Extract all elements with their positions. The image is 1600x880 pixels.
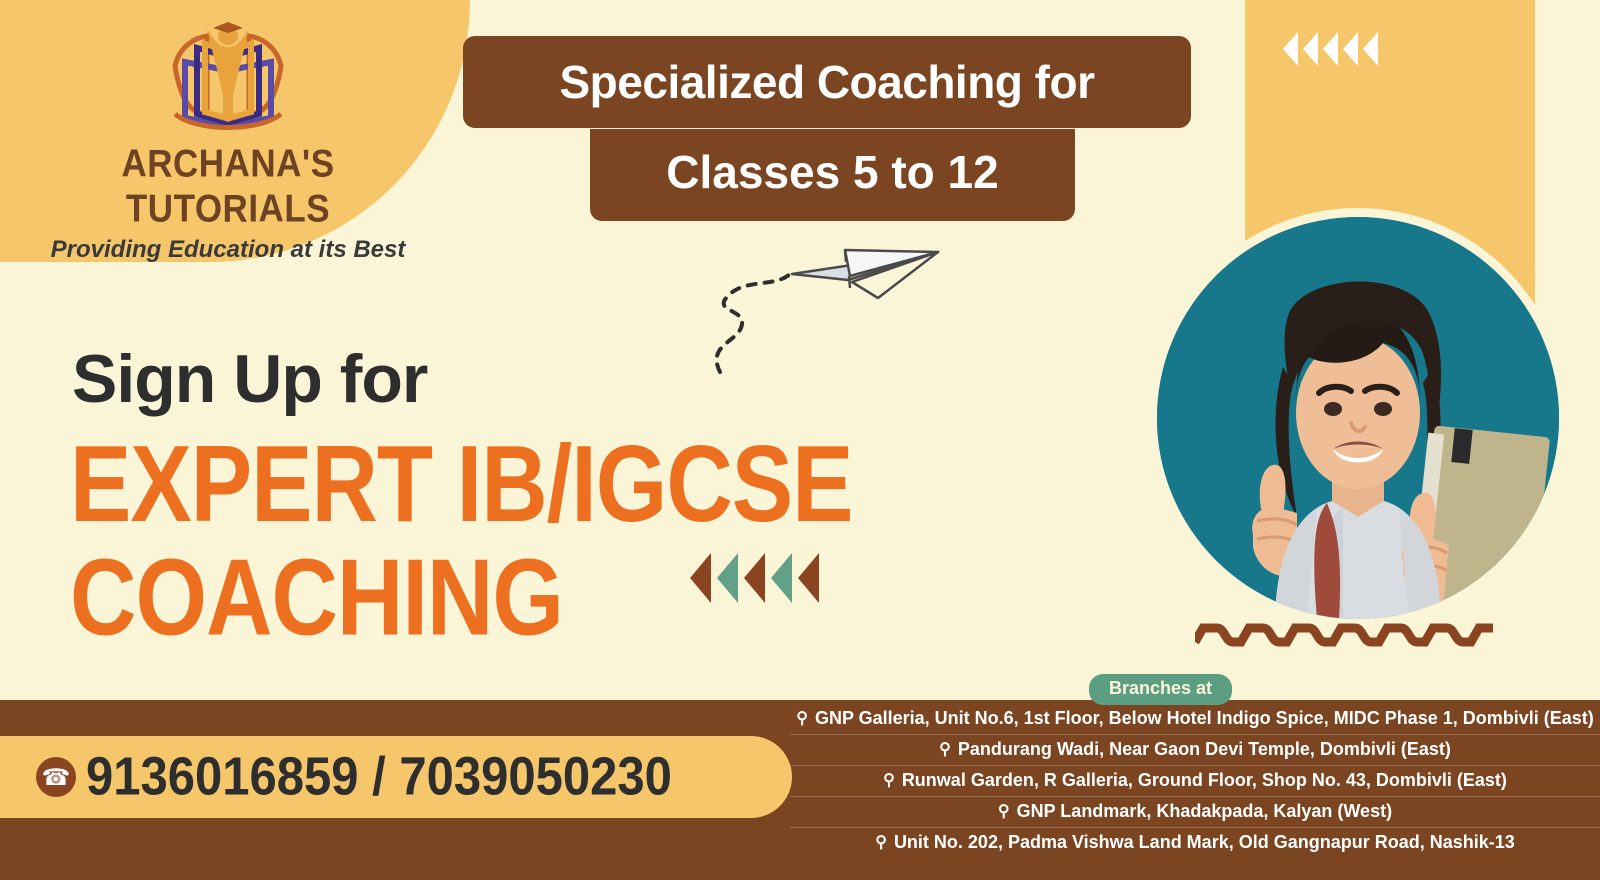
branch-item: ⚲ Pandurang Wadi, Near Gaon Devi Temple,… bbox=[790, 734, 1600, 765]
chevron-left-icon bbox=[1343, 32, 1358, 66]
top-banner-line2: Classes 5 to 12 bbox=[590, 129, 1075, 221]
student-photo-frame bbox=[1148, 208, 1568, 628]
location-pin-icon: ⚲ bbox=[998, 804, 1010, 820]
brand-tagline: Providing Education at its Best bbox=[18, 236, 438, 264]
book-graduate-logo bbox=[163, 14, 293, 136]
branch-item: ⚲ Unit No. 202, Padma Vishwa Land Mark, … bbox=[790, 827, 1600, 858]
wave-divider-icon bbox=[1195, 620, 1495, 648]
phone-icon: ☎ bbox=[36, 757, 76, 797]
branch-item: ⚲ Runwal Garden, R Galleria, Ground Floo… bbox=[790, 765, 1600, 796]
paper-airplane-icon bbox=[700, 232, 950, 377]
branch-item: ⚲ GNP Landmark, Khadakpada, Kalyan (West… bbox=[790, 796, 1600, 827]
promotional-banner: ARCHANA'S TUTORIALS Providing Education … bbox=[0, 0, 1600, 880]
headline-kicker: Sign Up for bbox=[72, 340, 427, 418]
top-banner-line1: Specialized Coaching for bbox=[463, 36, 1191, 128]
location-pin-icon: ⚲ bbox=[939, 742, 951, 758]
location-pin-icon: ⚲ bbox=[883, 773, 895, 789]
branches-title: Branches at bbox=[1089, 674, 1232, 705]
location-pin-icon: ⚲ bbox=[796, 711, 808, 727]
branch-address: Unit No. 202, Padma Vishwa Land Mark, Ol… bbox=[894, 832, 1515, 853]
branch-address: Pandurang Wadi, Near Gaon Devi Temple, D… bbox=[958, 739, 1451, 760]
brand-name: ARCHANA'S TUTORIALS bbox=[18, 142, 438, 232]
phone-contact-pill[interactable]: ☎ 9136016859 / 7039050230 bbox=[0, 736, 792, 818]
chevron-left-icon bbox=[1323, 32, 1338, 66]
student-illustration bbox=[1157, 217, 1559, 619]
chevron-left-icon bbox=[798, 553, 819, 603]
headline-main: EXPERT IB/IGCSE COACHING bbox=[70, 428, 853, 655]
branch-address: Runwal Garden, R Galleria, Ground Floor,… bbox=[902, 770, 1507, 791]
chevron-left-icon bbox=[1363, 32, 1378, 66]
brand-logo-block: ARCHANA'S TUTORIALS Providing Education … bbox=[18, 14, 438, 264]
chevron-left-icon bbox=[690, 553, 711, 603]
branch-address: GNP Landmark, Khadakpada, Kalyan (West) bbox=[1017, 801, 1392, 822]
chevron-left-icon bbox=[744, 553, 765, 603]
location-pin-icon: ⚲ bbox=[875, 835, 887, 851]
chevron-left-icon bbox=[771, 553, 792, 603]
student-photo bbox=[1157, 217, 1559, 619]
headline-line1: EXPERT IB/IGCSE bbox=[70, 428, 853, 541]
phone-numbers: 9136016859 / 7039050230 bbox=[86, 746, 672, 808]
branch-address: GNP Galleria, Unit No.6, 1st Floor, Belo… bbox=[815, 708, 1594, 729]
chevron-left-icon-group-mid bbox=[690, 553, 819, 603]
chevron-left-icon bbox=[717, 553, 738, 603]
branches-list: ⚲ GNP Galleria, Unit No.6, 1st Floor, Be… bbox=[790, 704, 1600, 858]
chevron-left-icon bbox=[1303, 32, 1318, 66]
chevron-left-icon-group-top bbox=[1283, 32, 1378, 66]
branch-item: ⚲ GNP Galleria, Unit No.6, 1st Floor, Be… bbox=[790, 704, 1600, 734]
top-banner-block: Specialized Coaching for Classes 5 to 12 bbox=[463, 36, 1203, 128]
chevron-left-icon bbox=[1283, 32, 1298, 66]
